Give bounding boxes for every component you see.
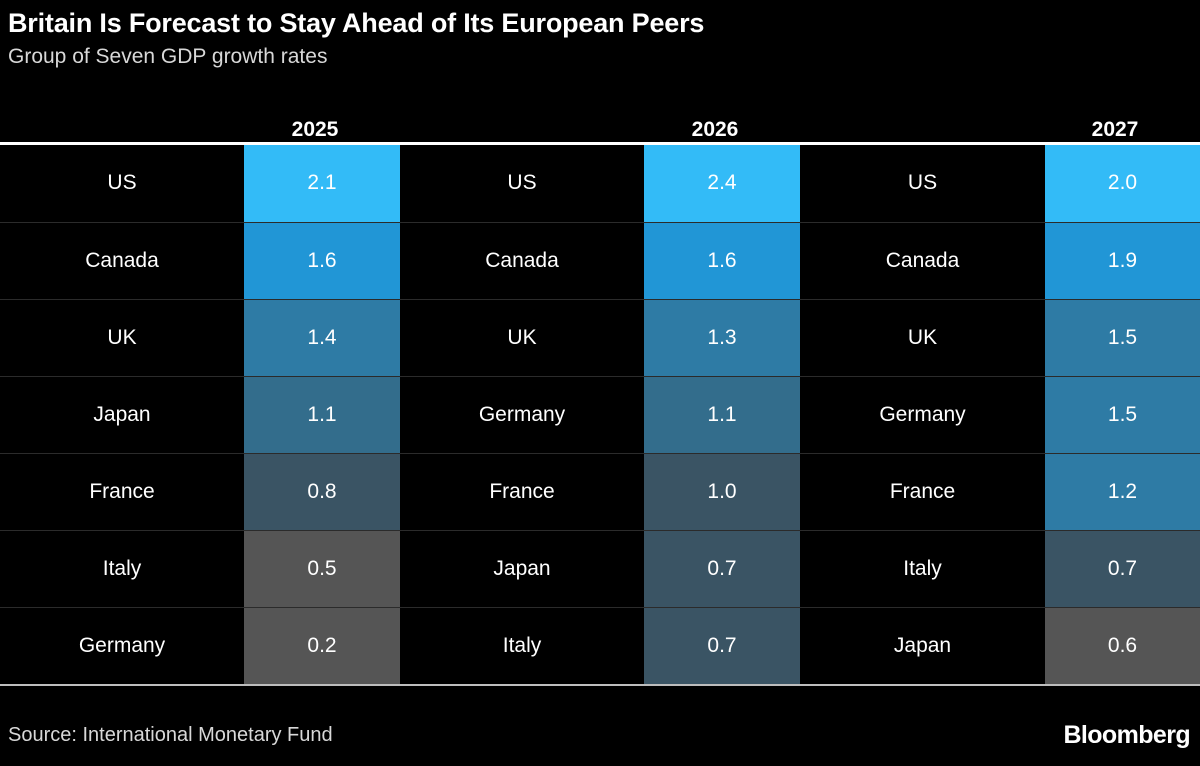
source-attribution: Source: International Monetary Fund [8,724,333,747]
value-cell: 2.1 [244,145,400,222]
country-label-cell: France [0,453,244,530]
chart-container: Britain Is Forecast to Stay Ahead of Its… [0,0,1200,766]
value-cell: 0.6 [1045,607,1200,684]
value-cell: 0.7 [644,530,800,607]
country-label-cell: France [400,453,644,530]
value-cell: 1.3 [644,299,800,376]
table-row: UK1.4UK1.3UK1.5 [0,299,1200,376]
country-label-cell: Canada [0,222,244,299]
value-cell: 0.7 [1045,530,1200,607]
country-label-cell: Canada [800,222,1045,299]
value-cell: 0.5 [244,530,400,607]
chart-footer: Source: International Monetary Fund Bloo… [0,708,1200,766]
country-label-cell: UK [0,299,244,376]
gdp-heatmap-table: US2.1US2.4US2.0Canada1.6Canada1.6Canada1… [0,145,1200,684]
year-header-band: 2025 2026 2027 [0,88,1200,142]
country-label-cell: US [400,145,644,222]
value-cell: 1.1 [244,376,400,453]
value-cell: 1.5 [1045,376,1200,453]
column-header-2026: 2026 [655,118,775,142]
value-cell: 1.4 [244,299,400,376]
country-label-cell: Italy [0,530,244,607]
country-label-cell: Italy [800,530,1045,607]
table-row: Canada1.6Canada1.6Canada1.9 [0,222,1200,299]
table-row: Japan1.1Germany1.1Germany1.5 [0,376,1200,453]
value-cell: 1.0 [644,453,800,530]
value-cell: 1.5 [1045,299,1200,376]
country-label-cell: US [0,145,244,222]
page-title: Britain Is Forecast to Stay Ahead of Its… [8,6,1200,40]
country-label-cell: Japan [800,607,1045,684]
country-label-cell: UK [400,299,644,376]
country-label-cell: Germany [0,607,244,684]
country-label-cell: UK [800,299,1045,376]
table-row: US2.1US2.4US2.0 [0,145,1200,222]
country-label-cell: Germany [800,376,1045,453]
value-cell: 1.6 [644,222,800,299]
value-cell: 0.8 [244,453,400,530]
country-label-cell: Italy [400,607,644,684]
value-cell: 2.4 [644,145,800,222]
column-header-2027: 2027 [1055,118,1175,142]
value-cell: 1.9 [1045,222,1200,299]
value-cell: 0.7 [644,607,800,684]
country-label-cell: France [800,453,1045,530]
value-cell: 0.2 [244,607,400,684]
table-row: Italy0.5Japan0.7Italy0.7 [0,530,1200,607]
value-cell: 1.1 [644,376,800,453]
value-cell: 2.0 [1045,145,1200,222]
chart-subtitle: Group of Seven GDP growth rates [8,43,1200,71]
footer-divider-rule [0,684,1200,686]
chart-header: Britain Is Forecast to Stay Ahead of Its… [0,0,1200,71]
bloomberg-logo: Bloomberg [1063,721,1190,750]
country-label-cell: Canada [400,222,644,299]
column-header-2025: 2025 [255,118,375,142]
table-row: France0.8France1.0France1.2 [0,453,1200,530]
value-cell: 1.6 [244,222,400,299]
country-label-cell: Japan [0,376,244,453]
table-row: Germany0.2Italy0.7Japan0.6 [0,607,1200,684]
country-label-cell: Germany [400,376,644,453]
country-label-cell: US [800,145,1045,222]
country-label-cell: Japan [400,530,644,607]
value-cell: 1.2 [1045,453,1200,530]
